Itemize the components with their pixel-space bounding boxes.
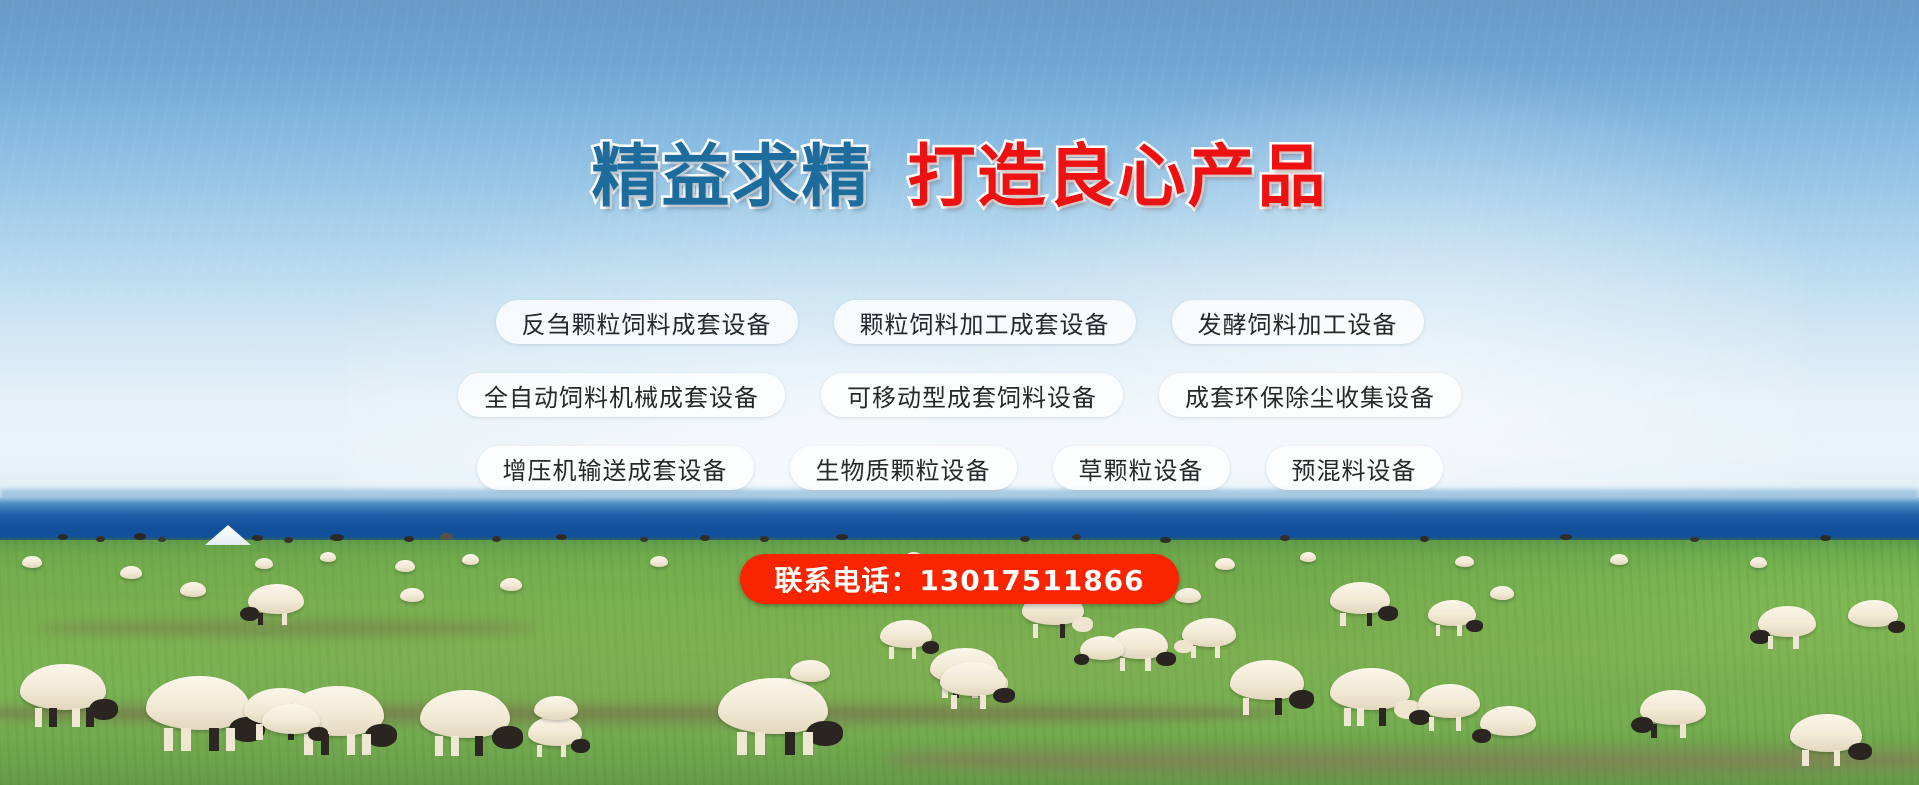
sheep bbox=[534, 696, 578, 720]
sheep bbox=[528, 716, 582, 746]
category-pill[interactable]: 颗粒饲料加工成套设备 bbox=[834, 300, 1136, 344]
category-pill-row-3: 增压机输送成套设备 生物质颗粒设备 草颗粒设备 预混料设备 bbox=[0, 446, 1919, 490]
sheep bbox=[1182, 618, 1236, 647]
sheep bbox=[1080, 636, 1124, 660]
contact-bar: 联系电话：13017511866 bbox=[0, 554, 1919, 604]
sheep bbox=[262, 704, 320, 734]
category-pill[interactable]: 反刍颗粒饲料成套设备 bbox=[496, 300, 798, 344]
distant-livestock bbox=[1020, 536, 1030, 542]
distant-livestock bbox=[134, 533, 146, 540]
headline-blue-text: 精益求精 bbox=[591, 138, 871, 217]
distant-livestock bbox=[158, 537, 166, 542]
distant-livestock bbox=[284, 537, 293, 543]
sheep bbox=[1330, 668, 1410, 710]
category-pill[interactable]: 增压机输送成套设备 bbox=[477, 446, 754, 490]
sheep bbox=[718, 678, 828, 734]
category-pill[interactable]: 成套环保除尘收集设备 bbox=[1159, 373, 1461, 417]
contact-phone-button[interactable]: 联系电话：13017511866 bbox=[740, 554, 1178, 604]
sheep bbox=[146, 676, 250, 730]
distant-livestock bbox=[1420, 536, 1429, 542]
category-pill[interactable]: 全自动饲料机械成套设备 bbox=[458, 373, 785, 417]
sheep bbox=[1480, 706, 1536, 736]
sheep bbox=[20, 664, 106, 710]
dirt-patch-far bbox=[38, 620, 537, 636]
distant-livestock bbox=[58, 534, 68, 540]
hero-banner: 精益求精打造良心产品 反刍颗粒饲料成套设备 颗粒饲料加工成套设备 发酵饲料加工设… bbox=[0, 0, 1919, 785]
distant-livestock bbox=[556, 534, 567, 540]
distant-livestock bbox=[1072, 534, 1081, 540]
sheep bbox=[790, 660, 830, 682]
category-pill[interactable]: 发酵饲料加工设备 bbox=[1172, 300, 1424, 344]
sheep bbox=[880, 620, 932, 648]
sheep bbox=[1230, 660, 1304, 700]
distant-livestock bbox=[404, 536, 414, 542]
distant-livestock bbox=[1560, 534, 1572, 540]
category-pill-row-1: 反刍颗粒饲料成套设备 颗粒饲料加工成套设备 发酵饲料加工设备 bbox=[0, 300, 1919, 344]
distant-livestock bbox=[440, 533, 453, 540]
distant-livestock bbox=[252, 535, 263, 541]
distant-livestock bbox=[760, 536, 769, 542]
distant-livestock bbox=[1820, 535, 1831, 541]
sheep bbox=[1758, 606, 1816, 637]
distant-livestock bbox=[836, 534, 848, 540]
sheep bbox=[420, 690, 510, 738]
hero-headline: 精益求精打造良心产品 bbox=[0, 140, 1919, 216]
sheep bbox=[1640, 690, 1706, 725]
category-pill[interactable]: 预混料设备 bbox=[1266, 446, 1443, 490]
sheep bbox=[1418, 684, 1480, 718]
distant-livestock bbox=[700, 535, 710, 541]
category-pill-row-2: 全自动饲料机械成套设备 可移动型成套饲料设备 成套环保除尘收集设备 bbox=[0, 373, 1919, 417]
sheep bbox=[940, 662, 1006, 696]
distant-livestock bbox=[330, 534, 344, 541]
distant-livestock bbox=[1690, 537, 1699, 542]
distant-livestock bbox=[1280, 535, 1290, 541]
distant-livestock bbox=[492, 536, 501, 542]
distant-livestock bbox=[640, 537, 648, 542]
sheep bbox=[1848, 600, 1898, 627]
headline-red-text: 打造良心产品 bbox=[908, 138, 1328, 217]
distant-livestock bbox=[96, 536, 105, 542]
distant-livestock bbox=[1160, 537, 1171, 543]
category-pill[interactable]: 可移动型成套饲料设备 bbox=[821, 373, 1123, 417]
category-pill[interactable]: 草颗粒设备 bbox=[1053, 446, 1230, 490]
category-pill[interactable]: 生物质颗粒设备 bbox=[790, 446, 1017, 490]
sheep bbox=[1790, 714, 1862, 752]
